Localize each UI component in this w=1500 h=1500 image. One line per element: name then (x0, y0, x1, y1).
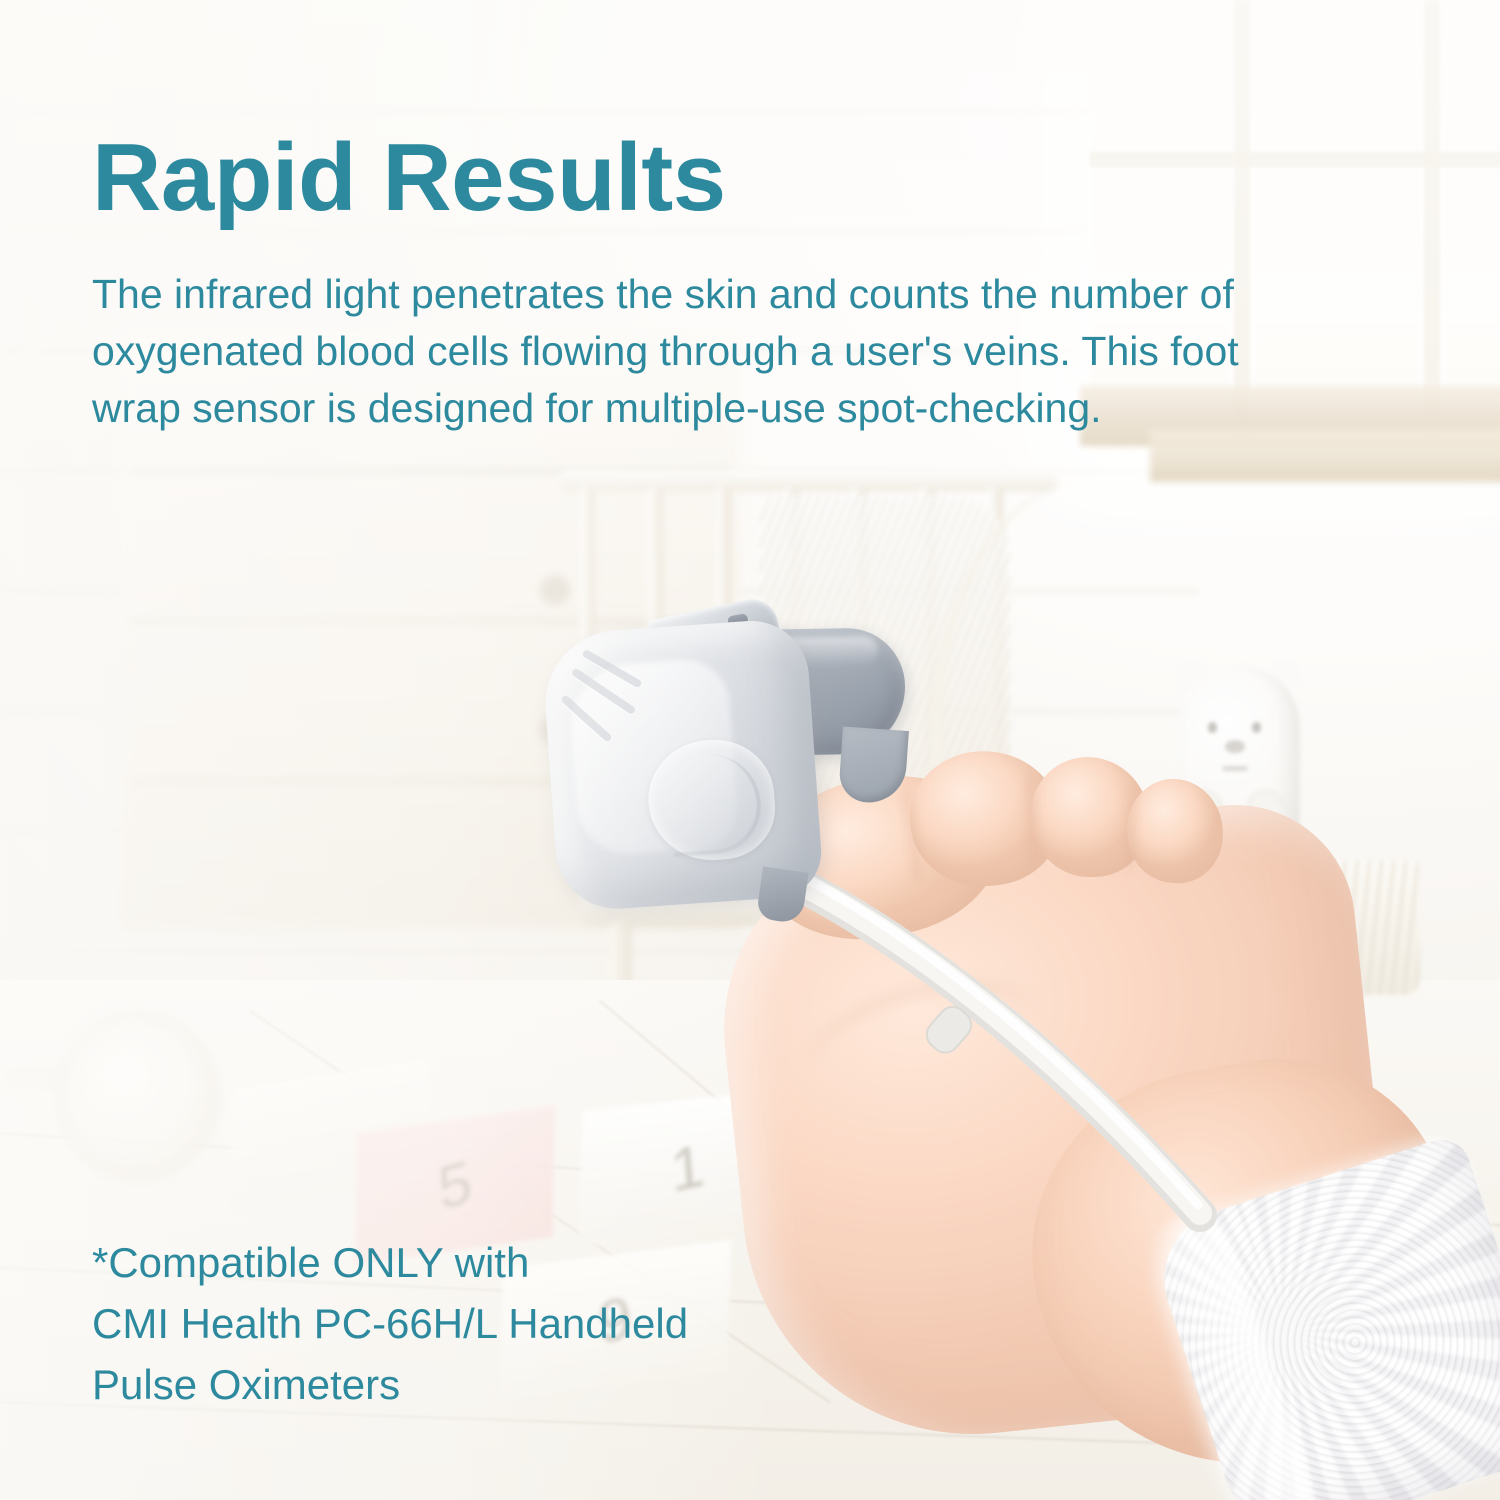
flash-card-number: 5 (353, 1125, 557, 1245)
sensor-jaw (838, 726, 909, 804)
page-title: Rapid Results (92, 130, 726, 226)
product-marketing-image: 5 1 9 (0, 0, 1500, 1500)
sensor-lower-jaw (756, 866, 809, 924)
footnote-line-1: *Compatible ONLY with (92, 1232, 792, 1293)
wooden-shelf (1150, 430, 1500, 482)
bear-eye-left (1208, 722, 1217, 733)
body-paragraph: The infrared light penetrates the skin a… (92, 266, 1252, 437)
window-mullion-horizontal (1090, 152, 1500, 167)
footnote-line-2: CMI Health PC-66H/L Handheld (92, 1293, 792, 1354)
pulse-oximeter-foot-sensor (529, 586, 951, 943)
window-mullion-vertical-2 (1424, 0, 1440, 440)
footnote-line-3: Pulse Oximeters (92, 1354, 792, 1415)
crib-top-rail (558, 470, 1058, 492)
compatibility-footnote: *Compatible ONLY with CMI Health PC-66H/… (92, 1232, 792, 1415)
bear-eye-right (1252, 722, 1261, 733)
toy-wheel (55, 1010, 220, 1182)
